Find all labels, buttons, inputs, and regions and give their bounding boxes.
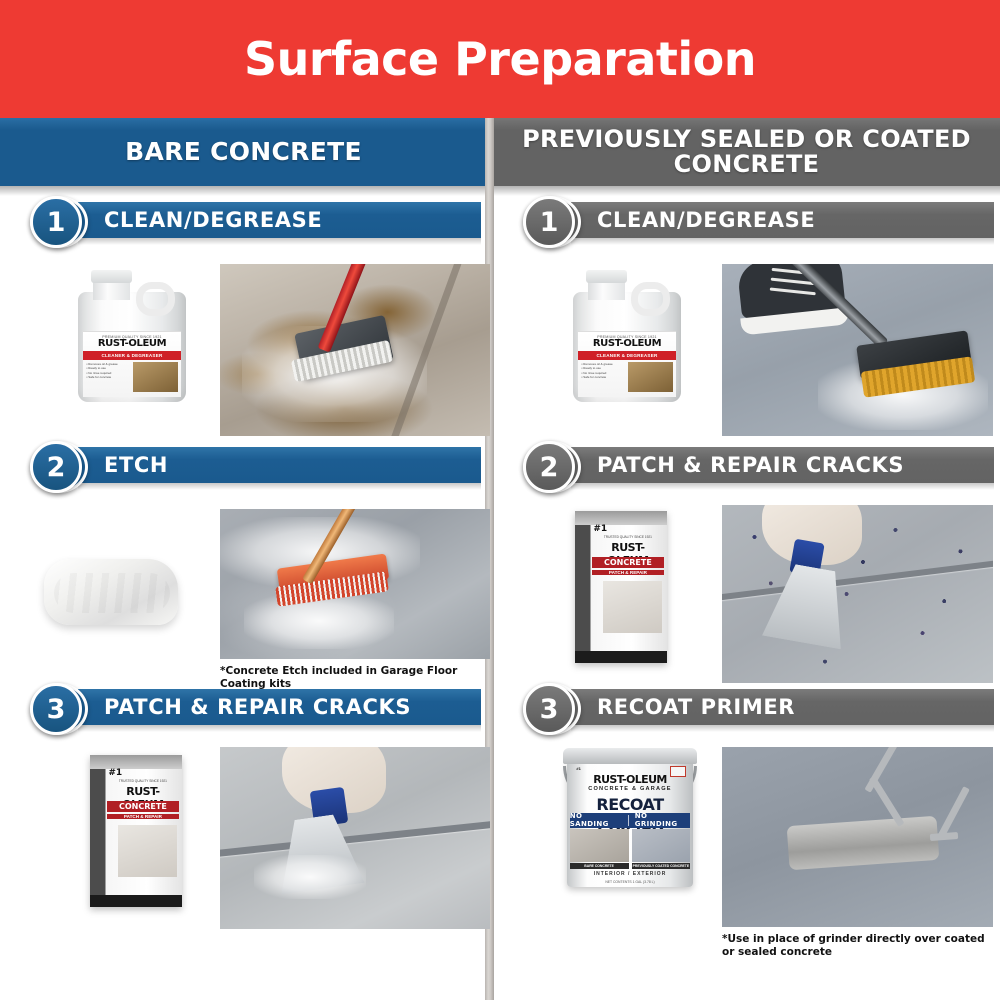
jug-cap <box>91 270 132 283</box>
step-block-left-2: 2 ETCH *Concrete Etch included in Garage… <box>0 441 487 683</box>
label-bullets: ▪ Removes oil & grease▪ Ready to use▪ No… <box>86 362 131 392</box>
step-block-left-3: 3 PATCH & REPAIR CRACKS #1 TRUSTED QUALI… <box>0 683 487 933</box>
column-header-bare-concrete: BARE CONCRETE <box>0 118 487 186</box>
box-number-one-badge: #1 <box>593 525 607 534</box>
label-photo <box>628 362 673 392</box>
photo-foam-2 <box>244 593 394 649</box>
box-product-name: CONCRETE <box>592 557 665 568</box>
step-title: PATCH & REPAIR CRACKS <box>597 449 904 481</box>
label-brand: RUST-OLEUM <box>578 339 675 349</box>
box-product-name: CONCRETE <box>107 801 180 812</box>
pail-caption-left: BARE CONCRETE <box>570 863 629 869</box>
pail-brand: RUST-OLEUM <box>574 773 687 786</box>
step-number-badge: 3 <box>30 683 82 735</box>
step-content-left-1: PREMIUM QUALITY SINCE 1921 RUST-OLEUM CL… <box>0 242 487 438</box>
pail-caption-right: PREVIOUSLY COATED CONCRETE <box>632 863 691 869</box>
box-tagline: TRUSTED QUALITY SINCE 1921 <box>592 535 665 539</box>
label-product-name: CLEANER & DEGREASER <box>578 351 675 360</box>
box-photo <box>603 581 663 633</box>
step-header-right-1: 1 CLEAN/DEGREASE <box>493 196 1000 242</box>
step-block-right-2: 2 PATCH & REPAIR CRACKS #1 TRUSTED QUALI… <box>493 441 1000 683</box>
footnote-right-primer: *Use in place of grinder directly over c… <box>722 933 986 959</box>
step-photo-left-2 <box>220 509 490 659</box>
pail-photo-row <box>570 829 691 862</box>
pail-claim-left: NO SANDING <box>570 812 622 828</box>
step-header-right-2: 2 PATCH & REPAIR CRACKS <box>493 441 1000 487</box>
step-title: CLEAN/DEGREASE <box>104 204 322 236</box>
step-title: ETCH <box>104 449 168 481</box>
step-block-right-3: 3 RECOAT PRIMER *Use in place of grinder… <box>493 683 1000 933</box>
step-number-badge: 3 <box>523 683 575 735</box>
box-photo <box>118 825 178 877</box>
label-product-name: CLEANER & DEGREASER <box>83 351 180 360</box>
product-concrete-patch-right: #1 TRUSTED QUALITY SINCE 1921 RUST-OLEUM… <box>575 511 667 663</box>
box-top-flap <box>90 755 182 769</box>
step-photo-left-1 <box>220 264 490 436</box>
step-content-left-2: *Concrete Etch included in Garage Floor … <box>0 487 487 683</box>
step-header-right-3: 3 RECOAT PRIMER <box>493 683 1000 729</box>
column-bare-concrete: 1 CLEAN/DEGREASE PREMIUM QUALITY SINCE 1 <box>0 196 487 933</box>
step-number-badge: 1 <box>523 196 575 248</box>
box-tagline: TRUSTED QUALITY SINCE 1921 <box>107 779 180 783</box>
step-photo-right-2 <box>722 505 993 683</box>
label-photo <box>133 362 178 392</box>
product-cleaner-degreaser-left: PREMIUM QUALITY SINCE 1921 RUST-OLEUM CL… <box>78 270 186 402</box>
step-header-left-2: 2 ETCH <box>0 441 487 487</box>
box-product-sub: PATCH & REPAIR <box>592 570 665 575</box>
pail-claim-right: NO GRINDING <box>635 812 691 828</box>
jug-label: PREMIUM QUALITY SINCE 1921 RUST-OLEUM CL… <box>578 331 675 397</box>
page-header-banner: Surface Preparation <box>0 0 1000 118</box>
product-cleaner-degreaser-right: PREMIUM QUALITY SINCE 1921 RUST-OLEUM CL… <box>573 270 681 402</box>
product-recoat-primer: #1 RUST-OLEUM CONCRETE & GARAGE RECOAT P… <box>563 745 697 893</box>
step-header-left-1: 1 CLEAN/DEGREASE <box>0 196 487 242</box>
photo-patch-smear <box>254 855 366 899</box>
step-header-left-3: 3 PATCH & REPAIR CRACKS <box>0 683 487 729</box>
pail-category: CONCRETE & GARAGE <box>574 786 687 792</box>
jug-handle <box>136 282 175 316</box>
pail-caption-row: BARE CONCRETE PREVIOUSLY COATED CONCRETE <box>570 863 691 869</box>
pail-brand-badge: #1 <box>576 766 580 771</box>
step-title: PATCH & REPAIR CRACKS <box>104 691 411 723</box>
pail-photo-coated <box>632 829 691 862</box>
page-title: Surface Preparation <box>244 32 756 86</box>
box-number-one-badge: #1 <box>108 769 122 778</box>
step-photo-left-3 <box>220 747 490 929</box>
step-block-right-1: 1 CLEAN/DEGREASE <box>493 196 1000 441</box>
step-title: RECOAT PRIMER <box>597 691 795 723</box>
step-photo-right-1 <box>722 264 993 436</box>
step-number-badge: 1 <box>30 196 82 248</box>
pail-use-text: INTERIOR / EXTERIOR <box>570 871 691 877</box>
step-content-left-3: #1 TRUSTED QUALITY SINCE 1921 RUST-OLEUM… <box>0 729 487 931</box>
box-product-sub: PATCH & REPAIR <box>107 814 180 819</box>
box-bottom-bar <box>575 651 667 663</box>
pail-lid <box>563 748 697 764</box>
pail-photo-bare <box>570 829 629 862</box>
column-previously-sealed: 1 CLEAN/DEGREASE <box>493 196 1000 933</box>
pail-claims-band: NO SANDING NO GRINDING <box>570 813 691 828</box>
jug-label: PREMIUM QUALITY SINCE 1921 RUST-OLEUM CL… <box>83 331 180 397</box>
column-header-label: BARE CONCRETE <box>125 139 362 165</box>
product-concrete-etch-bag <box>38 549 184 635</box>
column-header-shadow-right <box>493 186 1000 196</box>
pail-claim-divider <box>628 815 629 825</box>
jug-handle <box>631 282 670 316</box>
step-number-badge: 2 <box>30 441 82 493</box>
column-header-previously-sealed: PREVIOUSLY SEALED OR COATED CONCRETE <box>493 118 1000 186</box>
bag-fold <box>54 573 170 613</box>
jug-cap <box>586 270 627 283</box>
label-bullets: ▪ Removes oil & grease▪ Ready to use▪ No… <box>581 362 626 392</box>
box-top-flap <box>575 511 667 525</box>
step-photo-right-3 <box>722 747 993 927</box>
column-header-shadow-left <box>0 186 487 196</box>
step-content-right-2: #1 TRUSTED QUALITY SINCE 1921 RUST-OLEUM… <box>493 487 1000 683</box>
product-concrete-patch-left: #1 TRUSTED QUALITY SINCE 1921 RUST-OLEUM… <box>90 755 182 907</box>
pail-net-contents: NET CONTENTS 1 GAL (3.78 L) <box>570 880 691 884</box>
step-title: CLEAN/DEGREASE <box>597 204 815 236</box>
column-header-label: PREVIOUSLY SEALED OR COATED CONCRETE <box>493 127 1000 177</box>
box-bottom-bar <box>90 895 182 907</box>
step-content-right-3: *Use in place of grinder directly over c… <box>493 729 1000 931</box>
step-number-badge: 2 <box>523 441 575 493</box>
step-block-left-1: 1 CLEAN/DEGREASE PREMIUM QUALITY SINCE 1 <box>0 196 487 441</box>
label-brand: RUST-OLEUM <box>83 339 180 349</box>
step-content-right-1: PREMIUM QUALITY SINCE 1921 RUST-OLEUM CL… <box>493 242 1000 438</box>
